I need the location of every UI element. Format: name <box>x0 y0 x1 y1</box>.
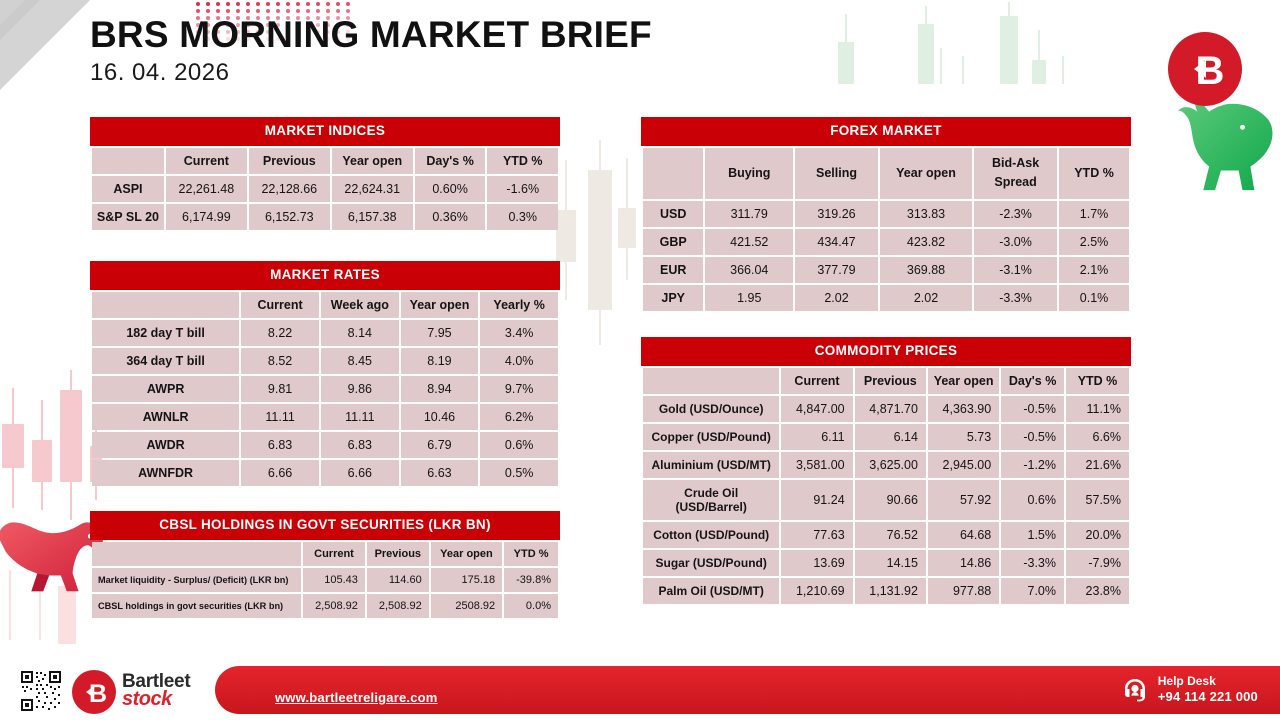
table-cell: 21.6% <box>1066 452 1129 478</box>
table-cell: 1.5% <box>1001 522 1064 548</box>
table-cell: 23.8% <box>1066 578 1129 604</box>
table-header-row: CurrentPreviousYear openDay's %YTD % <box>643 368 1129 394</box>
headset-icon <box>1121 676 1149 704</box>
help-desk-label: Help Desk <box>1158 674 1258 689</box>
bull-icon <box>1158 88 1276 196</box>
column-header: Day's % <box>415 148 486 174</box>
column-header: Current <box>241 292 319 318</box>
row-label: CBSL holdings in govt securities (LKR bn… <box>92 594 301 618</box>
diagonal-stripe-red-1 <box>0 0 1 153</box>
row-label: Market liquidity - Surplus/ (Deficit) (L… <box>92 568 301 592</box>
table-cell: 8.52 <box>241 348 319 374</box>
row-label: Copper (USD/Pound) <box>643 424 779 450</box>
column-header: YTD % <box>1066 368 1129 394</box>
cbsl-holdings-panel: CBSL HOLDINGS IN GOVT SECURITIES (LKR BN… <box>90 511 560 620</box>
candlestick-green <box>1060 56 1066 84</box>
row-label: JPY <box>643 285 703 311</box>
table-cell: 13.69 <box>781 550 852 576</box>
column-header: Previous <box>855 368 926 394</box>
table-cell: 6.63 <box>401 460 479 486</box>
table-cell: 6,174.99 <box>166 204 247 230</box>
table-row: Gold (USD/Ounce)4,847.004,871.704,363.90… <box>643 396 1129 422</box>
table-row: AWPR9.819.868.949.7% <box>92 376 558 402</box>
table-cell: 10.46 <box>401 404 479 430</box>
column-header: Buying <box>705 148 793 199</box>
row-label: GBP <box>643 229 703 255</box>
column-header-line1: Bid-Ask <box>992 156 1039 170</box>
table-cell: 1,131.92 <box>855 578 926 604</box>
row-label: Cotton (USD/Pound) <box>643 522 779 548</box>
column-header-blank <box>643 148 703 199</box>
forex-market-table: BuyingSellingYear openBid-AskSpreadYTD %… <box>641 146 1131 313</box>
brand-name: Bartleet stock <box>122 671 190 711</box>
brs-logo-circle <box>1168 32 1242 106</box>
brs-logo-icon: B <box>1168 32 1242 106</box>
column-header: Year open <box>431 542 502 566</box>
table-cell: -1.6% <box>487 176 558 202</box>
table-cell: 6.11 <box>781 424 852 450</box>
column-header: Current <box>303 542 365 566</box>
table-cell: 0.1% <box>1059 285 1129 311</box>
table-cell: 6.66 <box>321 460 399 486</box>
column-header: Year open <box>880 148 972 199</box>
table-row: S&P SL 206,174.996,152.736,157.380.36%0.… <box>92 204 558 230</box>
row-label: AWPR <box>92 376 239 402</box>
market-rates-panel: MARKET RATES CurrentWeek agoYear openYea… <box>90 261 560 488</box>
table-cell: 11.11 <box>321 404 399 430</box>
table-cell: 4,363.90 <box>928 396 999 422</box>
table-cell: 2,508.92 <box>367 594 429 618</box>
table-row: Market liquidity - Surplus/ (Deficit) (L… <box>92 568 558 592</box>
table-cell: 175.18 <box>431 568 502 592</box>
table-cell: -2.3% <box>974 201 1057 227</box>
row-label: USD <box>643 201 703 227</box>
help-desk-phone: +94 114 221 000 <box>1158 689 1258 705</box>
commodity-prices-panel: COMMODITY PRICES CurrentPreviousYear ope… <box>641 337 1131 606</box>
table-cell: -7.9% <box>1066 550 1129 576</box>
forex-market-panel: FOREX MARKET BuyingSellingYear openBid-A… <box>641 117 1131 313</box>
table-cell: 0.60% <box>415 176 486 202</box>
table-row: Crude Oil (USD/Barrel)91.2490.6657.920.6… <box>643 480 1129 520</box>
column-header-blank <box>92 148 164 174</box>
table-cell: 6.79 <box>401 432 479 458</box>
column-header-line2: Spread <box>994 175 1036 189</box>
table-cell: 57.5% <box>1066 480 1129 520</box>
table-cell: 64.68 <box>928 522 999 548</box>
table-row: Palm Oil (USD/MT)1,210.691,131.92977.887… <box>643 578 1129 604</box>
row-label: Sugar (USD/Pound) <box>643 550 779 576</box>
diagonal-stripe-red-2 <box>0 0 51 113</box>
table-cell: 9.86 <box>321 376 399 402</box>
column-header: YTD % <box>487 148 558 174</box>
table-cell: 2,508.92 <box>303 594 365 618</box>
row-label: EUR <box>643 257 703 283</box>
table-cell: 0.3% <box>487 204 558 230</box>
table-cell: 6.14 <box>855 424 926 450</box>
table-cell: 0.0% <box>504 594 558 618</box>
table-cell: 0.5% <box>480 460 558 486</box>
table-cell: 9.7% <box>480 376 558 402</box>
website-url-link[interactable]: www.bartleetreligare.com <box>275 690 438 705</box>
cbsl-holdings-title: CBSL HOLDINGS IN GOVT SECURITIES (LKR BN… <box>90 511 560 540</box>
table-cell: 3,625.00 <box>855 452 926 478</box>
table-cell: 3,581.00 <box>781 452 852 478</box>
table-cell: -1.2% <box>1001 452 1064 478</box>
table-cell: 977.88 <box>928 578 999 604</box>
table-cell: 423.82 <box>880 229 972 255</box>
column-header: Year open <box>332 148 413 174</box>
commodity-prices-table: CurrentPreviousYear openDay's %YTD % Gol… <box>641 366 1131 606</box>
table-cell: -3.3% <box>1001 550 1064 576</box>
table-cell: 14.15 <box>855 550 926 576</box>
row-label: Crude Oil (USD/Barrel) <box>643 480 779 520</box>
candlestick-pink <box>58 562 76 644</box>
candlestick-pink <box>32 400 52 510</box>
table-row: Copper (USD/Pound)6.116.145.73-0.5%6.6% <box>643 424 1129 450</box>
table-row: Sugar (USD/Pound)13.6914.1514.86-3.3%-7.… <box>643 550 1129 576</box>
row-label: Aluminium (USD/MT) <box>643 452 779 478</box>
candlestick-green <box>1000 2 1018 84</box>
table-cell: 8.14 <box>321 320 399 346</box>
table-cell: 7.95 <box>401 320 479 346</box>
table-row: AWNFDR6.666.666.630.5% <box>92 460 558 486</box>
table-cell: 6,152.73 <box>249 204 330 230</box>
table-cell: 20.0% <box>1066 522 1129 548</box>
column-header: Year open <box>401 292 479 318</box>
column-header: Previous <box>249 148 330 174</box>
table-cell: 6.83 <box>321 432 399 458</box>
column-header-blank <box>92 542 301 566</box>
cbsl-holdings-table: CurrentPreviousYear openYTD % Market liq… <box>90 540 560 620</box>
table-cell: 5.73 <box>928 424 999 450</box>
candlestick-green <box>838 14 854 84</box>
table-cell: 311.79 <box>705 201 793 227</box>
table-cell: -0.5% <box>1001 396 1064 422</box>
table-cell: 377.79 <box>795 257 878 283</box>
help-desk-block[interactable]: Help Desk +94 114 221 000 <box>1121 674 1258 705</box>
help-desk-text: Help Desk +94 114 221 000 <box>1158 674 1258 705</box>
table-cell: 2,945.00 <box>928 452 999 478</box>
candlestick-pink <box>36 588 44 640</box>
candlestick-green <box>960 56 966 84</box>
table-header-row: BuyingSellingYear openBid-AskSpreadYTD % <box>643 148 1129 199</box>
table-cell: 6.6% <box>1066 424 1129 450</box>
table-cell: -39.8% <box>504 568 558 592</box>
candlestick-green <box>1032 30 1046 84</box>
table-cell: 0.36% <box>415 204 486 230</box>
table-row: 364 day T bill8.528.458.194.0% <box>92 348 558 374</box>
page-date: 16. 04. 2026 <box>90 59 652 87</box>
table-cell: -3.1% <box>974 257 1057 283</box>
candlestick-pink <box>2 388 24 508</box>
table-cell: 22,624.31 <box>332 176 413 202</box>
column-header: Current <box>166 148 247 174</box>
candlestick-beige <box>618 158 636 280</box>
table-header-row: CurrentPreviousYear openDay's %YTD % <box>92 148 558 174</box>
market-indices-table: CurrentPreviousYear openDay's %YTD % ASP… <box>90 146 560 232</box>
table-cell: -3.3% <box>974 285 1057 311</box>
column-header: Day's % <box>1001 368 1064 394</box>
row-label: AWNLR <box>92 404 239 430</box>
table-cell: 1,210.69 <box>781 578 852 604</box>
table-cell: 1.95 <box>705 285 793 311</box>
table-cell: 366.04 <box>705 257 793 283</box>
table-cell: 91.24 <box>781 480 852 520</box>
table-cell: 3.4% <box>480 320 558 346</box>
candlestick-pink <box>4 570 16 640</box>
row-label: Palm Oil (USD/MT) <box>643 578 779 604</box>
table-row: CBSL holdings in govt securities (LKR bn… <box>92 594 558 618</box>
market-rates-title: MARKET RATES <box>90 261 560 290</box>
market-indices-title: MARKET INDICES <box>90 117 560 146</box>
page-header: BRS MORNING MARKET BRIEF 16. 04. 2026 <box>90 16 652 87</box>
table-cell: 8.19 <box>401 348 479 374</box>
table-cell: 4.0% <box>480 348 558 374</box>
row-label: 364 day T bill <box>92 348 239 374</box>
table-row: GBP421.52434.47423.82-3.0%2.5% <box>643 229 1129 255</box>
column-header: Bid-AskSpread <box>974 148 1057 199</box>
table-cell: 4,847.00 <box>781 396 852 422</box>
table-row: JPY1.952.022.02-3.3%0.1% <box>643 285 1129 311</box>
table-cell: 8.22 <box>241 320 319 346</box>
column-header-blank <box>643 368 779 394</box>
row-label: Gold (USD/Ounce) <box>643 396 779 422</box>
candlestick-green <box>938 48 944 84</box>
column-header: Previous <box>367 542 429 566</box>
market-indices-panel: MARKET INDICES CurrentPreviousYear openD… <box>90 117 560 232</box>
table-cell: 2.02 <box>880 285 972 311</box>
qr-code-icon[interactable] <box>20 670 62 712</box>
table-cell: 105.43 <box>303 568 365 592</box>
table-cell: 2.1% <box>1059 257 1129 283</box>
table-cell: 2508.92 <box>431 594 502 618</box>
column-header: YTD % <box>504 542 558 566</box>
table-cell: 2.5% <box>1059 229 1129 255</box>
table-cell: 6,157.38 <box>332 204 413 230</box>
column-header: Yearly % <box>480 292 558 318</box>
table-cell: 0.6% <box>1001 480 1064 520</box>
table-cell: 76.52 <box>855 522 926 548</box>
table-cell: 0.6% <box>480 432 558 458</box>
table-row: 182 day T bill8.228.147.953.4% <box>92 320 558 346</box>
table-cell: 14.86 <box>928 550 999 576</box>
column-header: Year open <box>928 368 999 394</box>
table-cell: 11.11 <box>241 404 319 430</box>
table-row: EUR366.04377.79369.88-3.1%2.1% <box>643 257 1129 283</box>
column-header: Week ago <box>321 292 399 318</box>
table-cell: 11.1% <box>1066 396 1129 422</box>
table-row: Cotton (USD/Pound)77.6376.5264.681.5%20.… <box>643 522 1129 548</box>
market-rates-table: CurrentWeek agoYear openYearly % 182 day… <box>90 290 560 488</box>
svg-text:B: B <box>1196 49 1225 93</box>
row-label: AWDR <box>92 432 239 458</box>
table-row: AWNLR11.1111.1110.466.2% <box>92 404 558 430</box>
table-cell: 6.66 <box>241 460 319 486</box>
column-header: Selling <box>795 148 878 199</box>
column-header: Current <box>781 368 852 394</box>
table-cell: 421.52 <box>705 229 793 255</box>
table-cell: 313.83 <box>880 201 972 227</box>
table-row: AWDR6.836.836.790.6% <box>92 432 558 458</box>
table-cell: 9.81 <box>241 376 319 402</box>
bartleet-logo-icon: B <box>72 670 116 714</box>
row-label: S&P SL 20 <box>92 204 164 230</box>
table-cell: 22,261.48 <box>166 176 247 202</box>
column-header: YTD % <box>1059 148 1129 199</box>
table-cell: 6.83 <box>241 432 319 458</box>
row-label: AWNFDR <box>92 460 239 486</box>
table-cell: -3.0% <box>974 229 1057 255</box>
table-cell: 369.88 <box>880 257 972 283</box>
table-row: USD311.79319.26313.83-2.3%1.7% <box>643 201 1129 227</box>
candlestick-pink <box>60 370 82 520</box>
row-label: 182 day T bill <box>92 320 239 346</box>
table-cell: 8.94 <box>401 376 479 402</box>
table-cell: 2.02 <box>795 285 878 311</box>
table-cell: 4,871.70 <box>855 396 926 422</box>
page-footer: B Bartleet stock www.bartleetreligare.co… <box>0 658 1280 720</box>
table-row: ASPI22,261.4822,128.6622,624.310.60%-1.6… <box>92 176 558 202</box>
forex-market-title: FOREX MARKET <box>641 117 1131 146</box>
page-title: BRS MORNING MARKET BRIEF <box>90 16 652 54</box>
table-cell: 319.26 <box>795 201 878 227</box>
column-header-blank <box>92 292 239 318</box>
candlestick-beige <box>588 140 612 345</box>
table-cell: 434.47 <box>795 229 878 255</box>
table-cell: 6.2% <box>480 404 558 430</box>
table-cell: -0.5% <box>1001 424 1064 450</box>
table-cell: 57.92 <box>928 480 999 520</box>
table-cell: 77.63 <box>781 522 852 548</box>
table-cell: 7.0% <box>1001 578 1064 604</box>
row-label: ASPI <box>92 176 164 202</box>
table-cell: 1.7% <box>1059 201 1129 227</box>
table-row: Aluminium (USD/MT)3,581.003,625.002,945.… <box>643 452 1129 478</box>
commodity-prices-title: COMMODITY PRICES <box>641 337 1131 366</box>
table-header-row: CurrentPreviousYear openYTD % <box>92 542 558 566</box>
svg-text:B: B <box>89 680 107 708</box>
table-header-row: CurrentWeek agoYear openYearly % <box>92 292 558 318</box>
candlestick-green <box>918 6 934 84</box>
table-cell: 90.66 <box>855 480 926 520</box>
table-cell: 8.45 <box>321 348 399 374</box>
table-cell: 22,128.66 <box>249 176 330 202</box>
table-cell: 114.60 <box>367 568 429 592</box>
